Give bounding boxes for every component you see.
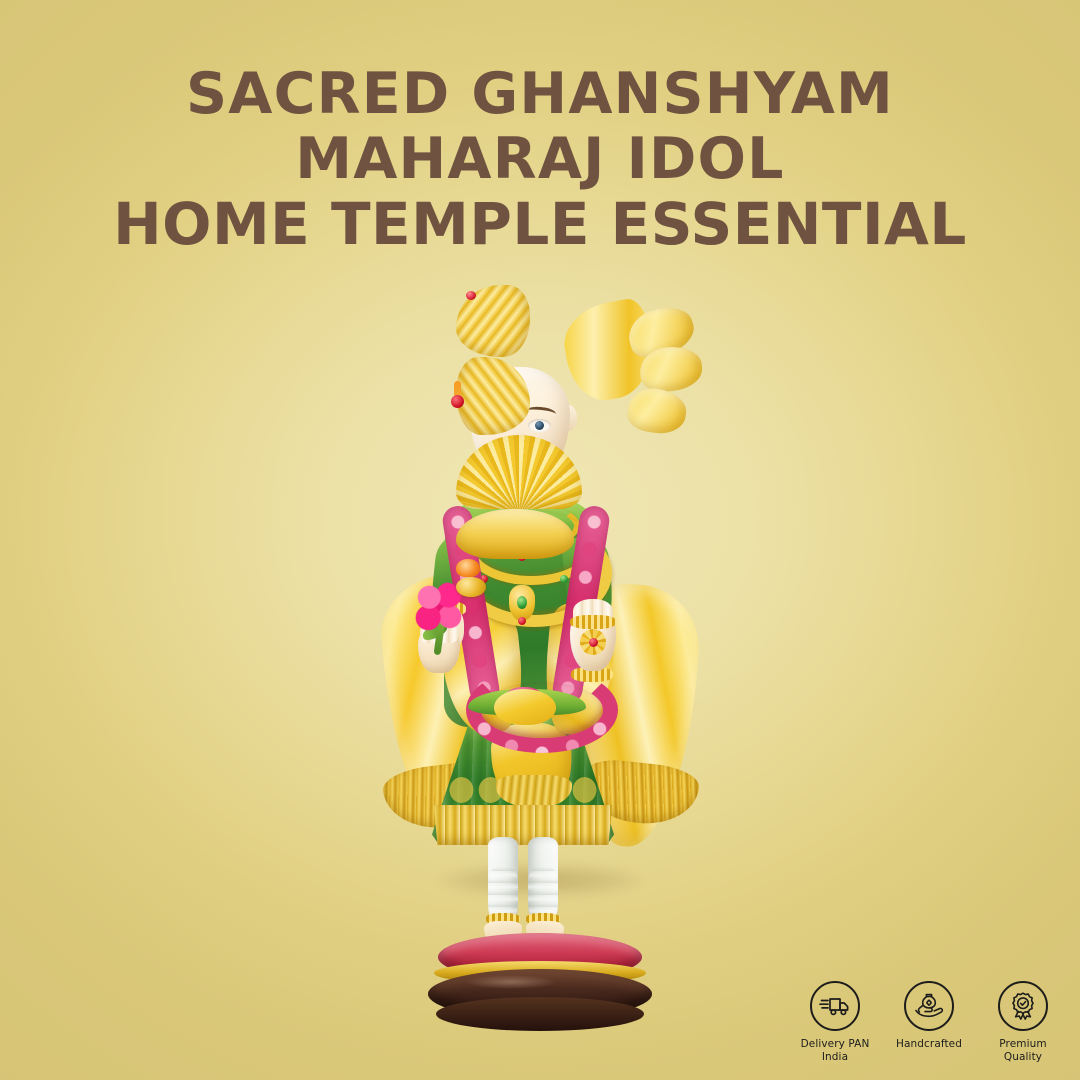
churidar-ruche-left (488, 867, 518, 919)
turban-side-right (456, 357, 530, 435)
badge-circle (998, 981, 1048, 1031)
badge-handcrafted[interactable]: Handcrafted (894, 981, 964, 1051)
badge-delivery-pan-india[interactable]: Delivery PAN India (800, 981, 870, 1064)
badge-circle (810, 981, 860, 1031)
sash-knot (494, 689, 556, 725)
headline-line-1: SACRED GHANSHYAM (0, 62, 1080, 127)
necklace-pendant (509, 585, 535, 621)
badge-label: Delivery PAN India (801, 1038, 870, 1064)
palm-lotus-mark (580, 629, 606, 655)
headline-line-2: MAHARAJ IDOL (0, 127, 1080, 192)
badge-label: Premium Quality (999, 1038, 1046, 1064)
badge-circle (904, 981, 954, 1031)
necklace-gem (560, 575, 568, 583)
skirt-gold-hem (430, 805, 616, 845)
turban-flower-tuft (456, 559, 480, 577)
poster-headline: SACRED GHANSHYAM MAHARAJ IDOL HOME TEMPL… (0, 62, 1080, 257)
turban-icon (456, 285, 628, 397)
churidar-ruche-right (528, 867, 558, 919)
turban-band (456, 509, 574, 559)
premium-quality-award-icon (1008, 991, 1038, 1021)
product-poster: SACRED GHANSHYAM MAHARAJ IDOL HOME TEMPL… (0, 0, 1080, 1080)
turban-jewel (456, 577, 486, 597)
badge-label: Handcrafted (896, 1038, 962, 1051)
delivery-truck-icon (819, 994, 851, 1018)
trust-badges: Delivery PAN India Handcrafted (800, 981, 1058, 1064)
skirt-gold-drape-hem (496, 775, 572, 807)
badge-premium-quality[interactable]: Premium Quality (988, 981, 1058, 1064)
ghanshyam-maharaj-idol (370, 285, 710, 915)
forehead-chandlo-dot (451, 395, 464, 408)
necklace-gem (518, 617, 526, 625)
base-highlight (466, 975, 556, 989)
idol-pupil-right (535, 421, 544, 430)
wooden-pedestal-lower (436, 997, 644, 1031)
handcrafted-hand-icon (913, 992, 945, 1020)
hand-gold-band (570, 615, 616, 629)
shawl-lobe (625, 385, 689, 437)
headline-line-3: HOME TEMPLE ESSENTIAL (0, 192, 1080, 257)
